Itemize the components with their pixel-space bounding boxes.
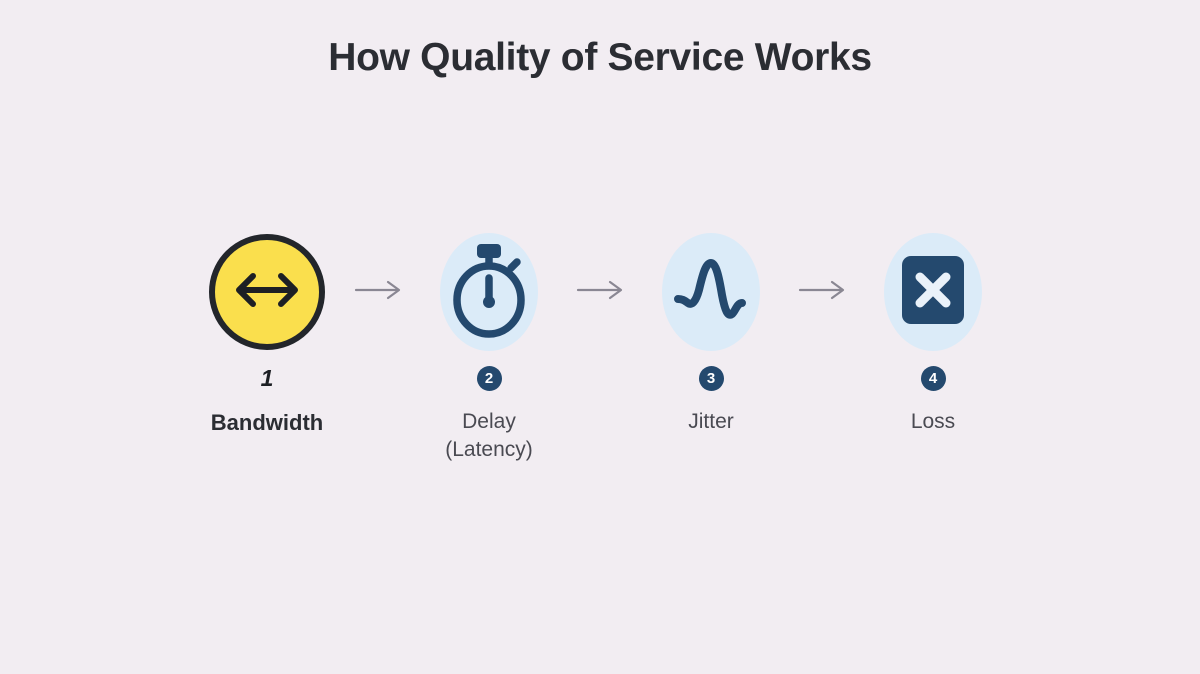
step-number-2: 2: [477, 366, 502, 391]
arrow-right-icon: [798, 279, 846, 306]
waveform-jitter-icon: [673, 257, 749, 328]
arrow-right-icon: [576, 279, 624, 306]
x-square-loss-icon: [898, 252, 968, 333]
flow-step-bandwidth: 1 Bandwidth: [192, 228, 342, 437]
jitter-icon-wrap: [662, 228, 760, 356]
arrow-right-icon: [354, 279, 402, 306]
step-label-jitter: Jitter: [688, 408, 734, 436]
loss-icon-wrap: [884, 228, 982, 356]
step-number-3: 3: [699, 366, 724, 391]
flow-step-delay: 2 Delay (Latency): [414, 228, 564, 463]
yellow-outlined-circle: [209, 234, 325, 350]
delay-icon-wrap: [440, 228, 538, 356]
step-number-row-2: 2: [477, 356, 502, 400]
step-number-row-3: 3: [699, 356, 724, 400]
step-number-row-4: 4: [921, 356, 946, 400]
pale-blue-blob-4: [884, 233, 982, 351]
step-number-4: 4: [921, 366, 946, 391]
pale-blue-blob-2: [440, 233, 538, 351]
flow-step-loss: 4 Loss: [858, 228, 1008, 436]
connector-arrow-1: [342, 228, 414, 356]
flow-step-jitter: 3 Jitter: [636, 228, 786, 436]
connector-arrow-3: [786, 228, 858, 356]
step-number-row-1: 1: [261, 356, 274, 400]
stopwatch-icon: [447, 240, 531, 345]
step-number-1: 1: [261, 366, 274, 391]
qos-flow-diagram: 1 Bandwidth: [0, 228, 1200, 463]
step-label-bandwidth: Bandwidth: [211, 408, 323, 437]
bandwidth-icon-wrap: [209, 228, 325, 356]
bidirectional-arrow-icon: [231, 270, 303, 315]
step-label-delay: Delay (Latency): [445, 408, 533, 463]
pale-blue-blob-3: [662, 233, 760, 351]
connector-arrow-2: [564, 228, 636, 356]
step-label-loss: Loss: [911, 408, 955, 436]
page-title: How Quality of Service Works: [0, 36, 1200, 80]
